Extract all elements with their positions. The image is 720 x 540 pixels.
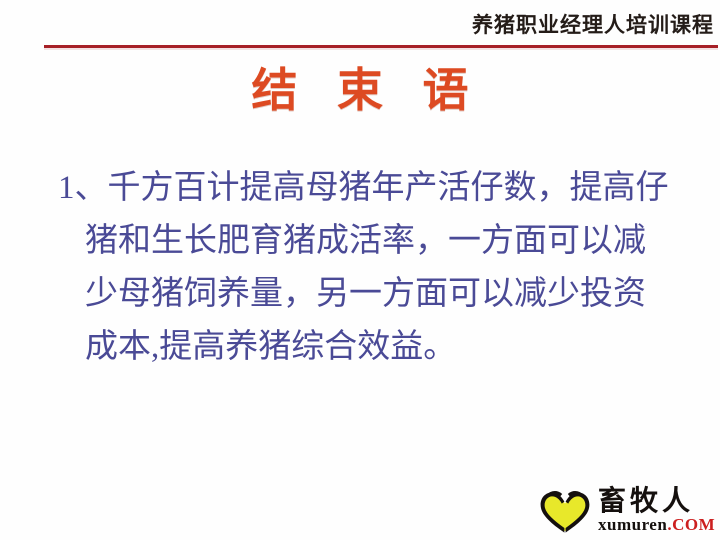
page-title: 结 束 语 [0,64,720,118]
brand-domain: xumuren.COM [598,515,715,534]
site-logo: 畜牧人 xumuren.COM [536,487,716,537]
domain-tld: .COM [667,515,715,534]
heart-icon [536,489,594,535]
brand-name-cn: 畜牧人 [598,486,694,517]
logo-wordmark: 畜牧人 xumuren.COM [598,487,718,535]
course-title: 养猪职业经理人培训课程 [472,12,714,38]
slide-header: 养猪职业经理人培训课程 [0,0,720,52]
body-content: 1、千方百计提高母猪年产活仔数，提高仔 猪和生长肥育猪成活率，一方面可以减 少母… [58,162,678,374]
domain-name: xumuren [598,515,667,534]
body-line: 成本,提高养猪综合效益。 [58,321,678,374]
body-line: 猪和生长肥育猪成活率，一方面可以减 [58,215,678,268]
body-line: 1、千方百计提高母猪年产活仔数，提高仔 [58,162,678,215]
body-line: 少母猪饲养量，另一方面可以减少投资 [58,268,678,321]
slide-canvas: 养猪职业经理人培训课程 结 束 语 1、千方百计提高母猪年产活仔数，提高仔 猪和… [0,0,720,540]
header-divider-shadow [44,48,718,50]
